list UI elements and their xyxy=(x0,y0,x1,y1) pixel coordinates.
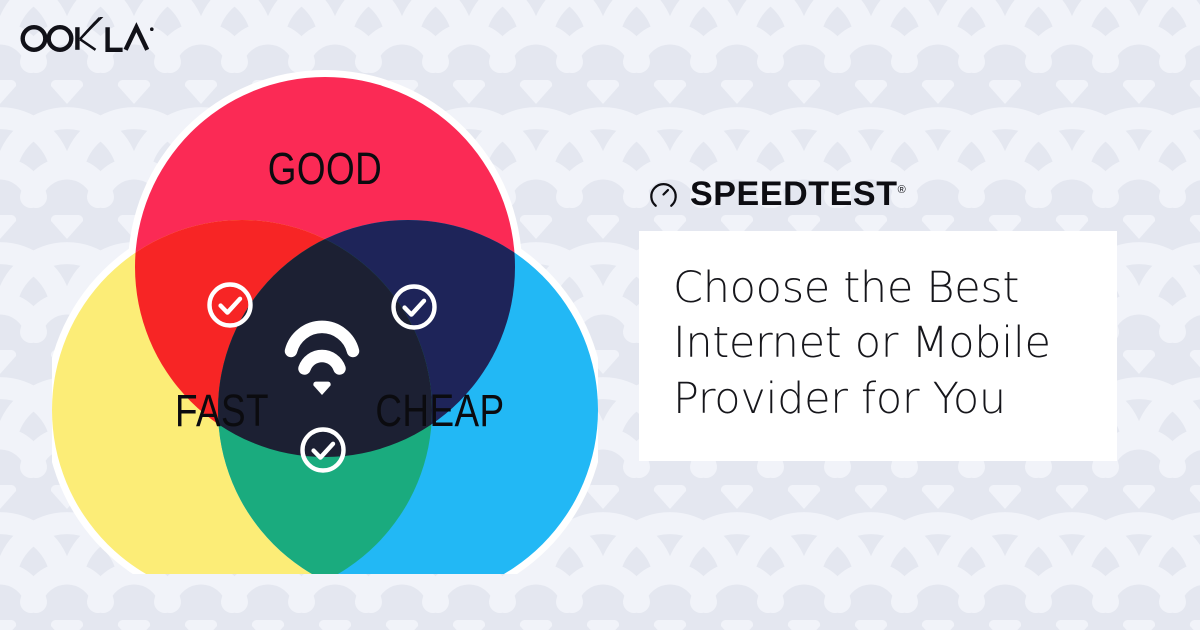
speedtest-gauge-icon xyxy=(648,179,679,210)
right-column: SPEEDTEST® Choose the Best Internet or M… xyxy=(639,174,1129,461)
headline-line-1: Choose the Best xyxy=(673,261,1083,316)
page-title: Choose the Best Internet or Mobile Provi… xyxy=(673,261,1083,427)
speedtest-wordmark: SPEEDTEST® xyxy=(690,177,906,211)
registered-trademark-symbol: ® xyxy=(898,184,906,196)
headline-card: Choose the Best Internet or Mobile Provi… xyxy=(639,231,1117,461)
headline-line-3: Provider for You xyxy=(673,372,1083,427)
venn-label-fast: FAST xyxy=(175,386,269,436)
venn-label-cheap: CHEAP xyxy=(375,386,504,436)
venn-diagram: GOOD FAST CHEAP xyxy=(52,62,598,574)
headline-line-2: Internet or Mobile xyxy=(673,316,1083,371)
ookla-logo[interactable] xyxy=(17,17,157,55)
speedtest-logo[interactable]: SPEEDTEST® xyxy=(639,174,1129,214)
venn-label-good: GOOD xyxy=(268,144,382,194)
poster-canvas: GOOD FAST CHEAP xyxy=(0,0,1200,630)
speedtest-wordmark-text: SPEEDTEST xyxy=(690,175,898,213)
